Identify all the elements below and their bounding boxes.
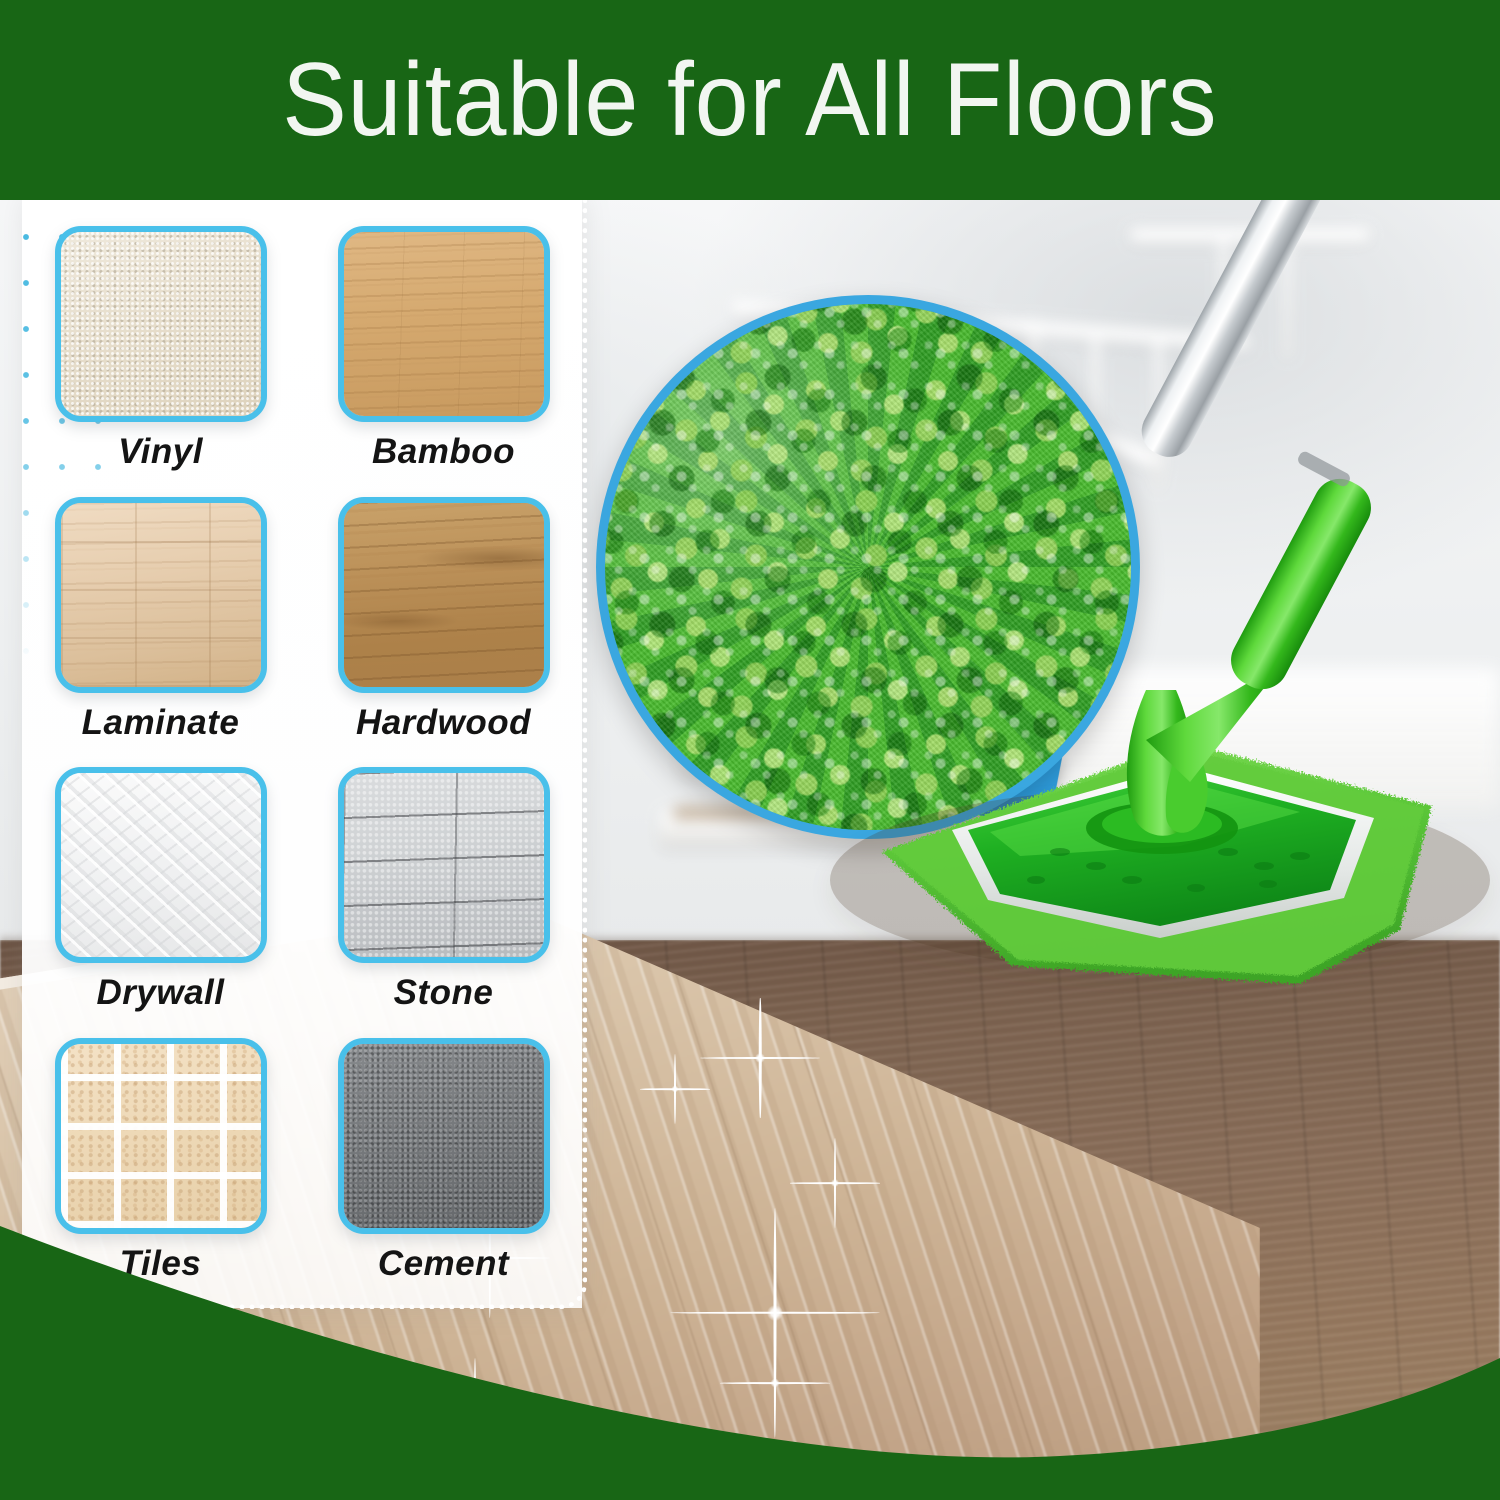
floor-type-label: Vinyl xyxy=(118,432,203,472)
floor-type-cell[interactable]: Bamboo xyxy=(326,226,561,497)
floor-type-label: Hardwood xyxy=(356,703,531,743)
floor-type-label: Drywall xyxy=(97,973,225,1013)
floor-type-cell[interactable]: Drywall xyxy=(43,767,278,1038)
floor-types-grid: Vinyl Bamboo Laminate Hardwood Drywall S… xyxy=(22,198,582,1308)
floor-type-cell[interactable]: Tiles xyxy=(43,1038,278,1309)
tiles-swatch xyxy=(55,1038,267,1234)
microfiber-closeup-magnifier xyxy=(596,295,1140,839)
cement-swatch xyxy=(338,1038,550,1234)
floor-type-cell[interactable]: Cement xyxy=(326,1038,561,1309)
floor-type-label: Bamboo xyxy=(372,432,515,472)
drywall-swatch xyxy=(55,767,267,963)
floor-type-label: Stone xyxy=(394,973,494,1013)
vinyl-swatch xyxy=(55,226,267,422)
floor-type-cell[interactable]: Vinyl xyxy=(43,226,278,497)
floor-type-label: Cement xyxy=(378,1244,509,1284)
floor-type-cell[interactable]: Stone xyxy=(326,767,561,1038)
product-infographic: Vinyl Bamboo Laminate Hardwood Drywall S… xyxy=(0,0,1500,1500)
stone-swatch xyxy=(338,767,550,963)
bamboo-swatch xyxy=(338,226,550,422)
floor-type-cell[interactable]: Laminate xyxy=(43,497,278,768)
page-title-text: Suitable for All Floors xyxy=(282,48,1217,152)
floor-type-cell[interactable]: Hardwood xyxy=(326,497,561,768)
header-banner: Suitable for All Floors xyxy=(0,0,1500,200)
hardwood-swatch xyxy=(338,497,550,693)
floor-type-label: Tiles xyxy=(120,1244,202,1284)
microfiber-texture xyxy=(605,304,1131,830)
floor-type-label: Laminate xyxy=(82,703,240,743)
page-title: Suitable for All Floors xyxy=(0,48,1500,152)
laminate-swatch xyxy=(55,497,267,693)
